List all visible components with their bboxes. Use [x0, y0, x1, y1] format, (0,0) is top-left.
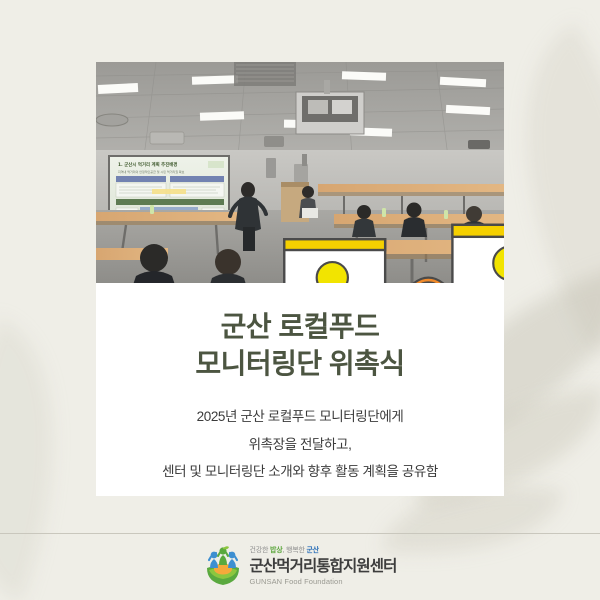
footer-divider	[0, 533, 600, 534]
title-line-2: 모니터링단 위촉식	[120, 346, 480, 383]
footer-logo: 건강한 밥상, 행복한 군산 군산먹거리통합지원센터 GUNSAN Food F…	[0, 541, 600, 591]
seminar-room-photo: 1. 군산시 먹거리 계획 추진배경 지역내 먹거리의 안정적인공급 및 시민 …	[96, 62, 504, 283]
logo-tagline: 건강한 밥상, 행복한 군산	[250, 547, 397, 556]
gunsan-food-foundation-emblem-icon	[204, 546, 242, 586]
title-line-1: 군산 로컬푸드	[120, 309, 480, 346]
page-title: 군산 로컬푸드 모니터링단 위촉식	[120, 309, 480, 383]
organization-name: 군산먹거리통합지원센터	[250, 559, 397, 575]
subtitle-line-3: 센터 및 모니터링단 소개와 향후 활동 계획을 공유함	[120, 458, 480, 486]
poster-card: 1. 군산시 먹거리 계획 추진배경 지역내 먹거리의 안정적인공급 및 시민 …	[96, 62, 504, 496]
footer-logo-text: 건강한 밥상, 행복한 군산 군산먹거리통합지원센터 GUNSAN Food F…	[250, 547, 397, 585]
subtitle-line-2: 위촉장을 전달하고,	[120, 431, 480, 459]
poster-description: 2025년 군산 로컬푸드 모니터링단에게 위촉장을 전달하고, 센터 및 모니…	[120, 403, 480, 486]
svg-text:1. 군산시 먹거리 계획 추진배경: 1. 군산시 먹거리 계획 추진배경	[118, 161, 177, 168]
organization-name-english: GUNSAN Food Foundation	[250, 578, 397, 586]
subtitle-line-1: 2025년 군산 로컬푸드 모니터링단에게	[120, 403, 480, 431]
svg-text:지역내 먹거리의 안정적인공급 및 시민 먹거리권 확보: 지역내 먹거리의 안정적인공급 및 시민 먹거리권 확보	[118, 169, 185, 174]
poster-text-block: 군산 로컬푸드 모니터링단 위촉식 2025년 군산 로컬푸드 모니터링단에게 …	[96, 283, 504, 486]
